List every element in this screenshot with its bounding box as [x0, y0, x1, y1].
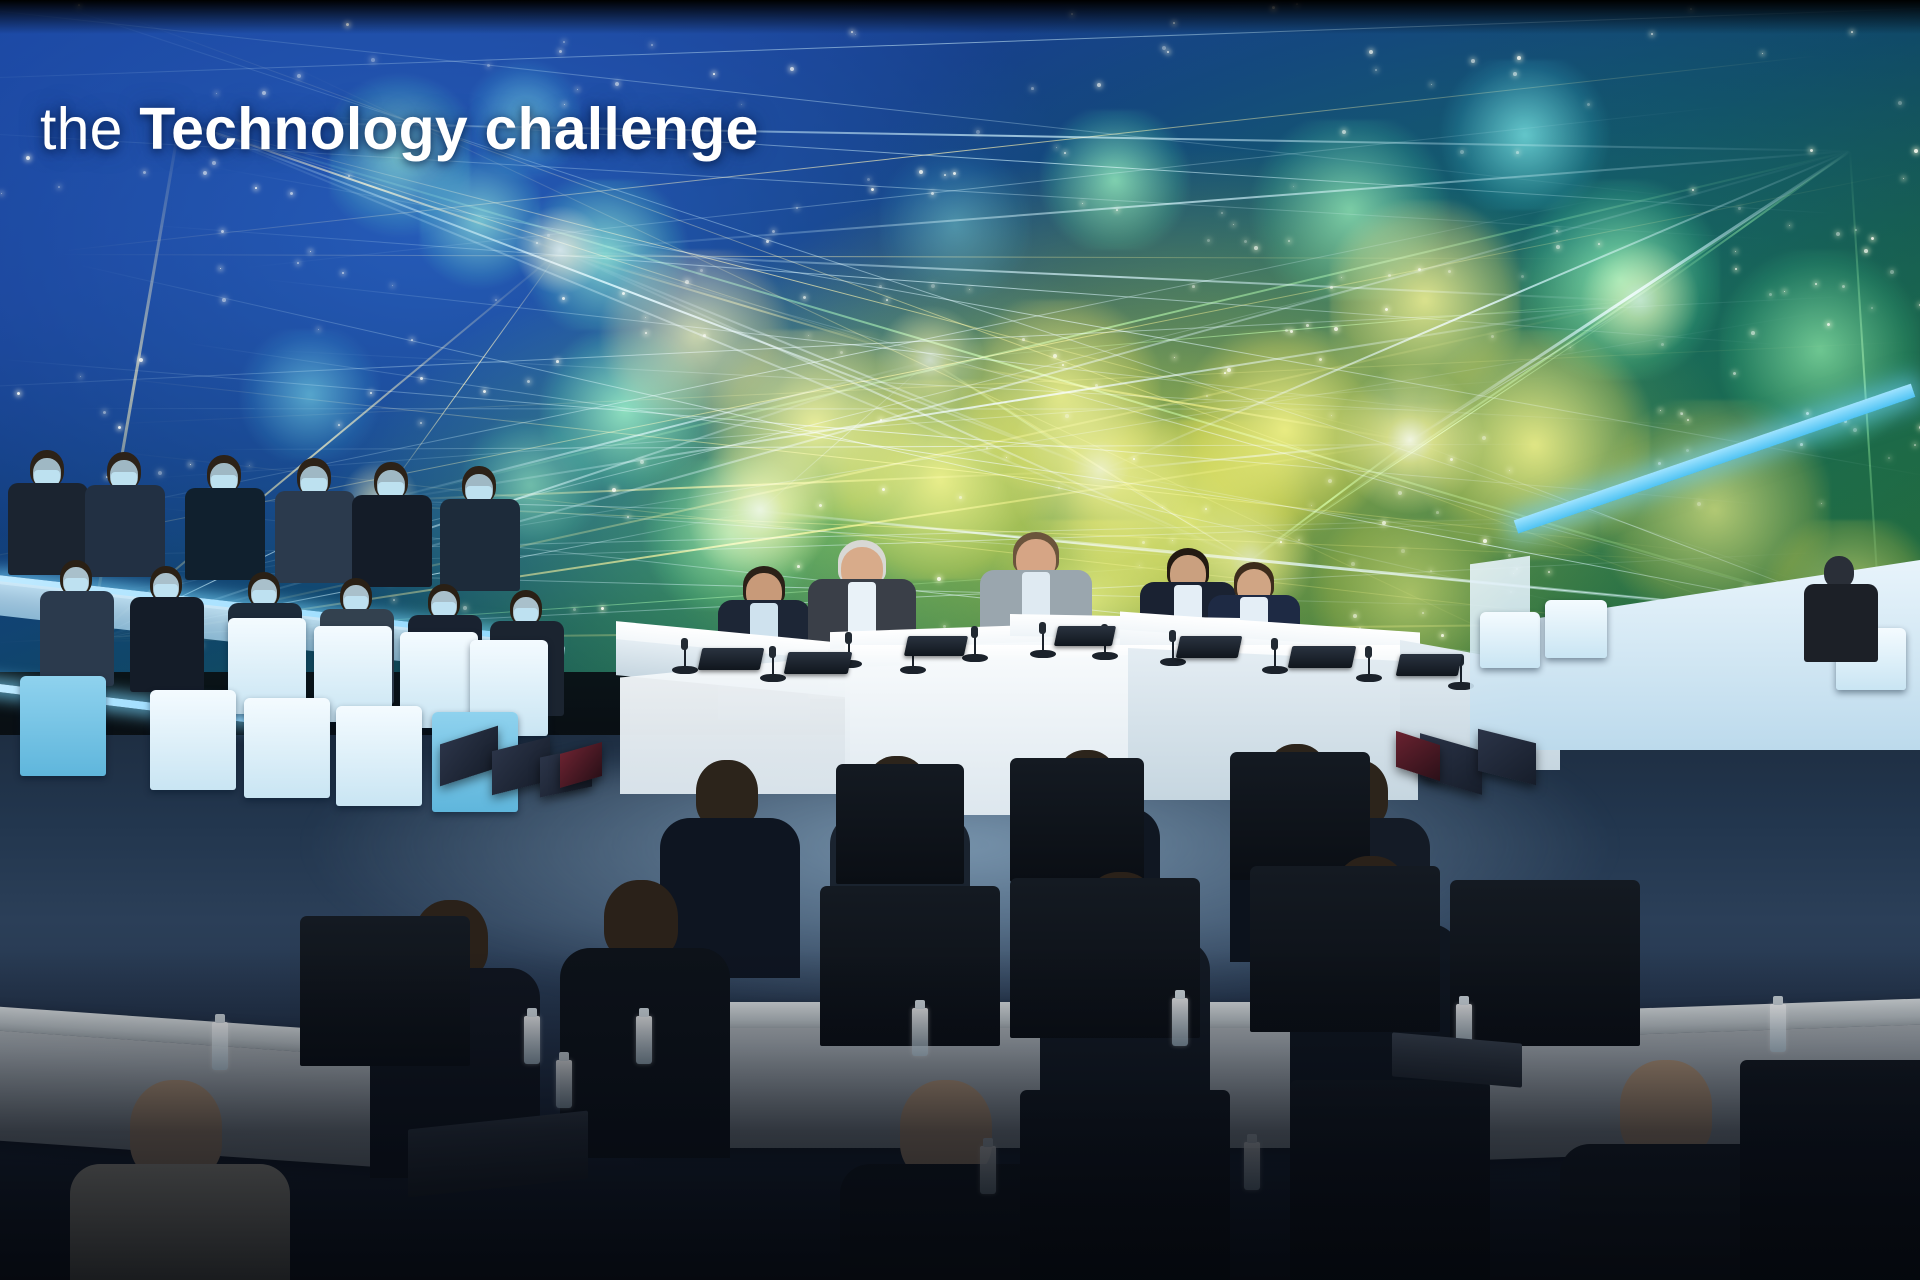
- city-light-dot: [1658, 462, 1661, 465]
- city-light-dot: [573, 608, 576, 611]
- tier-person-torso: [40, 591, 114, 686]
- city-light-dot: [1205, 508, 1207, 510]
- city-light-dot: [1914, 149, 1918, 153]
- city-light-dot: [1735, 251, 1736, 252]
- city-light-dot: [651, 44, 653, 46]
- city-light-dot: [222, 298, 226, 302]
- foreground-chair-row1-2: [1010, 758, 1144, 882]
- city-light-dot: [1388, 274, 1391, 277]
- city-light-dot: [1334, 327, 1338, 331]
- foreground-chair-row1-1: [836, 764, 964, 884]
- desk-nameplate-6: [1288, 646, 1357, 668]
- network-hub-hotspot-3: [875, 305, 985, 415]
- city-light-dot: [463, 606, 467, 610]
- city-light-dot: [1548, 571, 1550, 573]
- city-light-dot: [1914, 444, 1916, 446]
- city-light-dot: [393, 599, 395, 601]
- city-light-dot: [221, 230, 224, 233]
- city-light-dot: [937, 577, 941, 581]
- empty-white-chair-6: [336, 706, 422, 806]
- city-light-dot: [371, 58, 375, 62]
- desk-nameplate-1: [698, 648, 765, 670]
- city-light-dot: [556, 360, 559, 363]
- city-light-dot: [1064, 152, 1066, 154]
- conference-stage-screenshot: the Technology challenge: [0, 0, 1920, 1280]
- city-light-dot: [1254, 246, 1258, 250]
- city-light-dot: [1382, 521, 1386, 525]
- city-light-dot: [158, 471, 162, 475]
- tier-person-torso: [185, 488, 265, 580]
- city-light-dot: [1692, 189, 1694, 191]
- microphone-head: [1039, 622, 1046, 634]
- city-light-dot: [1513, 72, 1517, 76]
- city-light-dot: [1871, 307, 1873, 309]
- city-light-dot: [342, 272, 344, 274]
- city-light-dot: [1864, 249, 1868, 253]
- city-light-dot: [487, 64, 490, 67]
- city-light-dot: [1353, 614, 1357, 618]
- landmass-blob-20: [240, 330, 380, 460]
- city-light-dot: [1375, 69, 1377, 71]
- city-light-dot: [790, 67, 794, 71]
- city-light-dot: [601, 607, 604, 610]
- city-light-dot: [1436, 511, 1439, 514]
- city-light-dot: [627, 516, 629, 518]
- empty-white-chair-8: [20, 676, 106, 776]
- city-light-dot: [766, 240, 769, 243]
- city-light-dot: [1800, 443, 1803, 446]
- tier-person-torso: [85, 485, 165, 577]
- city-light-dot: [931, 284, 935, 288]
- city-light-dot: [58, 186, 60, 188]
- microphone-head: [1169, 630, 1176, 642]
- desk-nameplate-2: [784, 652, 853, 674]
- desk-nameplate-3: [904, 636, 968, 656]
- network-hub-hotspot-4: [1580, 240, 1700, 360]
- city-light-dot: [203, 171, 207, 175]
- foreground-darkening-scrim: [0, 950, 1920, 1280]
- city-light-dot: [886, 299, 888, 301]
- city-light-dot: [139, 358, 143, 362]
- city-light-dot: [1062, 364, 1064, 366]
- city-light-dot: [1769, 293, 1772, 296]
- city-light-dot: [1556, 245, 1560, 249]
- city-light-dot: [1116, 209, 1118, 211]
- desk-nameplate-4: [1054, 626, 1116, 646]
- microphone-head: [681, 638, 688, 650]
- city-light-dot: [1244, 240, 1247, 243]
- city-light-dot: [420, 377, 423, 380]
- city-light-dot: [1855, 229, 1857, 231]
- empty-white-chair-4: [150, 690, 236, 790]
- city-light-dot: [1853, 428, 1857, 432]
- empty-white-chair-5: [244, 698, 330, 798]
- city-light-dot: [1570, 347, 1571, 348]
- city-light-dot: [1224, 372, 1226, 374]
- microphone-head: [769, 646, 776, 658]
- city-light-dot: [1871, 237, 1874, 240]
- microphone-head: [1271, 638, 1278, 650]
- city-light-dot: [1598, 243, 1600, 245]
- city-light-dot: [796, 207, 798, 209]
- city-light-dot: [1401, 549, 1405, 553]
- city-light-dot: [249, 465, 250, 466]
- city-light-dot: [255, 187, 257, 189]
- city-light-dot: [713, 73, 715, 75]
- city-light-dot: [1483, 539, 1487, 543]
- city-light-dot: [615, 82, 619, 86]
- city-light-dot: [1162, 46, 1166, 50]
- city-light-dot: [495, 299, 497, 301]
- city-light-dot: [297, 262, 299, 264]
- city-light-dot: [1517, 56, 1521, 60]
- city-light-dot: [1330, 286, 1333, 289]
- city-light-dot: [1422, 612, 1424, 614]
- city-light-dot: [1556, 230, 1558, 232]
- city-light-dot: [1221, 212, 1223, 214]
- city-light-dot: [919, 170, 923, 174]
- city-light-dot: [297, 74, 301, 78]
- city-light-dot: [411, 339, 413, 341]
- city-light-dot: [1460, 150, 1464, 154]
- city-light-dot: [612, 488, 616, 492]
- tier-person-torso: [130, 597, 204, 692]
- network-hub-hotspot-5: [515, 205, 605, 295]
- city-light-dot: [1097, 83, 1101, 87]
- city-light-dot: [26, 156, 30, 160]
- city-light-dot: [1369, 50, 1373, 54]
- city-light-dot: [700, 269, 703, 272]
- city-light-dot: [1306, 324, 1309, 327]
- city-light-dot: [1441, 634, 1444, 637]
- microphone-head: [1365, 646, 1372, 658]
- slide-title-thin: the: [40, 96, 139, 162]
- city-light-dot: [703, 334, 706, 337]
- tier-person-torso: [440, 499, 520, 591]
- city-light-dot: [1509, 470, 1510, 471]
- landmass-blob-19: [1040, 110, 1190, 250]
- city-light-dot: [1587, 103, 1590, 106]
- city-light-dot: [1290, 330, 1293, 333]
- tier-person-torso: [275, 491, 355, 583]
- city-light-dot: [931, 192, 934, 195]
- city-light-dot: [1784, 291, 1785, 292]
- city-light-dot: [1471, 59, 1475, 63]
- slide-title-bold: Technology challenge: [139, 96, 758, 162]
- city-light-dot: [976, 130, 980, 134]
- city-light-dot: [1903, 178, 1904, 179]
- city-light-dot: [1293, 186, 1294, 187]
- city-light-dot: [1227, 368, 1231, 372]
- microphone-head: [845, 632, 852, 644]
- city-light-dot: [1328, 479, 1332, 483]
- city-light-dot: [1890, 270, 1894, 274]
- wing-chair-2: [1545, 600, 1607, 658]
- desk-nameplate-7: [1396, 654, 1463, 676]
- city-light-dot: [1022, 338, 1025, 341]
- city-light-dot: [1167, 51, 1169, 53]
- city-light-dot: [1680, 412, 1683, 415]
- city-light-dot: [1053, 354, 1057, 358]
- city-light-dot: [1687, 419, 1689, 421]
- wing-person-body: [1804, 584, 1878, 662]
- city-light-dot: [1192, 285, 1195, 288]
- wing-chair-1: [1480, 612, 1540, 668]
- network-hub-hotspot-2: [1335, 365, 1485, 515]
- city-light-dot: [880, 419, 882, 421]
- screen-top-vignette: [0, 0, 1920, 34]
- city-light-dot: [1031, 87, 1034, 90]
- city-light-dot: [216, 93, 217, 94]
- city-light-dot: [986, 447, 988, 449]
- city-light-dot: [953, 172, 956, 175]
- city-light-dot: [1351, 562, 1355, 566]
- city-light-dot: [563, 41, 565, 43]
- city-light-dot: [1516, 151, 1519, 154]
- city-light-dot: [1206, 395, 1208, 397]
- desk-nameplate-5: [1176, 636, 1243, 658]
- city-light-dot: [1888, 457, 1890, 459]
- city-light-dot: [1815, 283, 1817, 285]
- city-light-dot: [959, 496, 962, 499]
- led-video-wall: the Technology challenge: [0, 0, 1920, 700]
- city-light-dot: [1697, 502, 1701, 506]
- city-light-dot: [562, 297, 565, 300]
- slide-title: the Technology challenge: [40, 100, 758, 159]
- microphone-head: [971, 626, 978, 638]
- city-light-dot: [338, 424, 340, 426]
- network-hub-hotspot-0: [685, 435, 835, 585]
- city-light-dot: [1448, 270, 1451, 273]
- city-light-dot: [867, 178, 870, 181]
- city-light-dot: [944, 174, 946, 176]
- city-light-dot: [1751, 331, 1755, 335]
- city-light-dot: [1491, 335, 1494, 338]
- tier-person-torso: [352, 495, 432, 587]
